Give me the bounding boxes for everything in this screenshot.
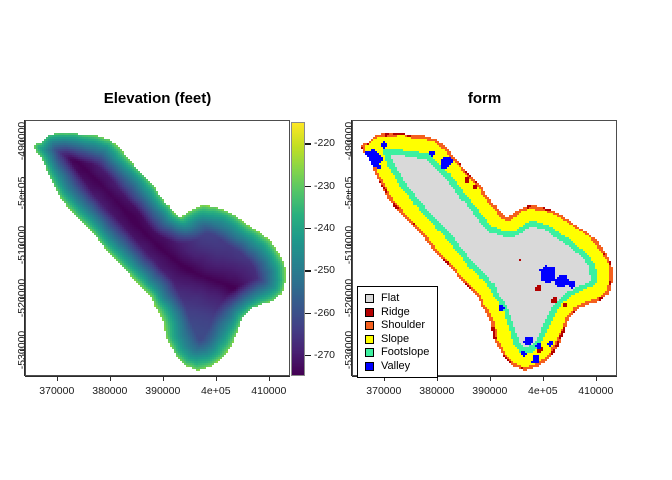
y-tick-label-form-3: -520000 [343, 278, 355, 317]
x-tick-label-elevation-3: 4e+05 [201, 385, 231, 397]
colorbar-tick-5 [305, 355, 311, 357]
panel-title-elevation: Elevation (feet) [25, 90, 290, 107]
y-axis-line-form [351, 120, 352, 376]
elevation-raster [26, 121, 290, 376]
legend-label-valley: Valley [381, 361, 410, 372]
legend-label-flat: Flat [381, 293, 399, 304]
plot-area-elevation [25, 120, 290, 376]
legend-item-footslope[interactable]: Footslope [365, 346, 430, 359]
legend-item-flat[interactable]: Flat [365, 292, 430, 305]
form-legend[interactable]: FlatRidgeShoulderSlopeFootslopeValley [357, 286, 438, 378]
elevation-colorbar [291, 122, 305, 376]
legend-swatch-shoulder [365, 321, 374, 330]
x-tick-label-elevation-4: 410000 [251, 385, 286, 397]
legend-swatch-ridge [365, 308, 374, 317]
legend-item-valley[interactable]: Valley [365, 360, 430, 373]
y-tick-label-form-0: -490000 [343, 122, 355, 161]
colorbar-tick-label-2: -240 [314, 222, 335, 234]
figure-canvas: Elevation (feet) 3700003800003900004e+05… [0, 0, 672, 480]
y-tick-label-elevation-2: -510000 [16, 226, 28, 265]
legend-swatch-valley [365, 362, 374, 371]
y-tick-label-elevation-1: -5e+05 [16, 177, 28, 210]
colorbar-tick-label-4: -260 [314, 307, 335, 319]
x-tick-label-form-0: 370000 [366, 385, 401, 397]
y-tick-label-elevation-3: -520000 [16, 278, 28, 317]
colorbar-tick-1 [305, 186, 311, 188]
colorbar-tick-4 [305, 313, 311, 315]
colorbar-tick-label-3: -250 [314, 264, 335, 276]
colorbar-tick-label-0: -220 [314, 137, 335, 149]
x-tick-label-elevation-1: 380000 [92, 385, 127, 397]
colorbar-gradient [292, 123, 304, 375]
y-tick-label-form-1: -5e+05 [343, 177, 355, 210]
form-legend-rows: FlatRidgeShoulderSlopeFootslopeValley [365, 292, 430, 373]
x-tick-label-form-1: 380000 [419, 385, 454, 397]
colorbar-tick-0 [305, 143, 311, 145]
legend-label-slope: Slope [381, 334, 409, 345]
colorbar-tick-2 [305, 228, 311, 230]
colorbar-tick-label-1: -230 [314, 180, 335, 192]
legend-swatch-slope [365, 335, 374, 344]
legend-item-ridge[interactable]: Ridge [365, 306, 430, 319]
legend-label-shoulder: Shoulder [381, 320, 425, 331]
legend-item-shoulder[interactable]: Shoulder [365, 319, 430, 332]
legend-item-slope[interactable]: Slope [365, 333, 430, 346]
x-tick-label-elevation-2: 390000 [145, 385, 180, 397]
legend-swatch-flat [365, 294, 374, 303]
panel-title-form: form [352, 90, 617, 107]
legend-label-footslope: Footslope [381, 347, 429, 358]
y-tick-label-elevation-4: -530000 [16, 331, 28, 370]
x-tick-label-form-2: 390000 [472, 385, 507, 397]
legend-swatch-footslope [365, 348, 374, 357]
colorbar-tick-3 [305, 270, 311, 272]
x-tick-label-form-3: 4e+05 [528, 385, 558, 397]
y-tick-label-form-2: -510000 [343, 226, 355, 265]
colorbar-tick-label-5: -270 [314, 349, 335, 361]
x-axis-line-elevation [25, 376, 290, 377]
y-axis-line-elevation [24, 120, 25, 376]
y-tick-label-form-4: -530000 [343, 331, 355, 370]
y-tick-label-elevation-0: -490000 [16, 122, 28, 161]
x-tick-label-form-4: 410000 [578, 385, 613, 397]
x-tick-label-elevation-0: 370000 [39, 385, 74, 397]
legend-label-ridge: Ridge [381, 307, 410, 318]
